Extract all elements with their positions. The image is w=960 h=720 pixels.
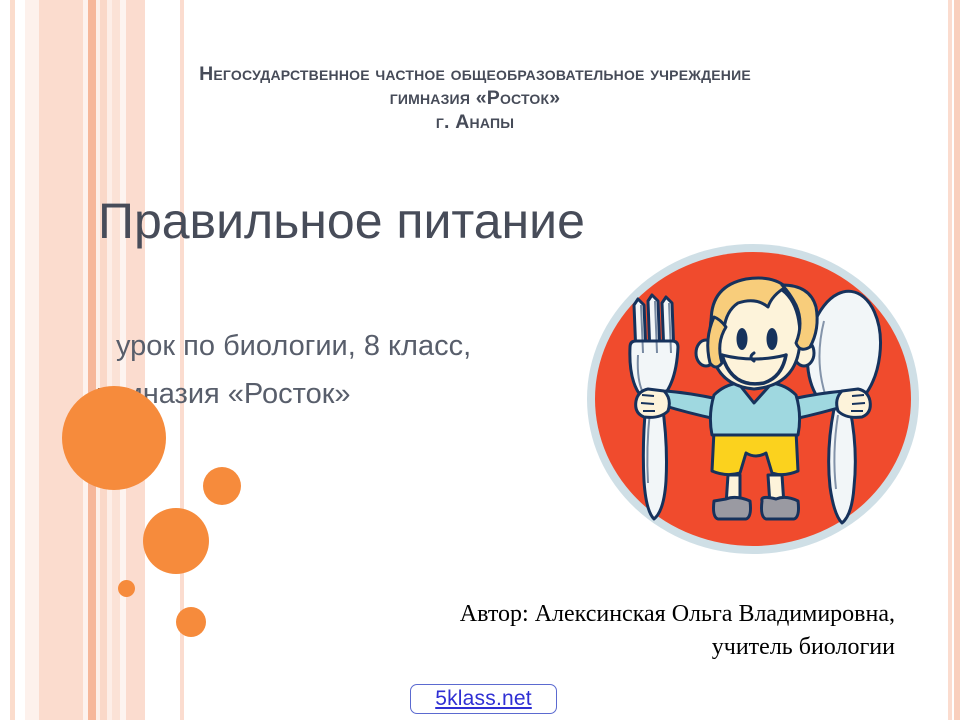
author-line-1: Автор: Алексинская Ольга Владимировна,: [275, 598, 895, 631]
stripe-3: [83, 0, 88, 720]
org-header-line-2: гимназия «Росток»: [90, 86, 860, 110]
stripe-0: [10, 0, 15, 720]
author-line-2: учитель биологии: [275, 631, 895, 664]
circle-tiny: [118, 580, 135, 597]
stripe-12: [948, 0, 952, 720]
subtitle-line-2: гимназия «Росток»: [96, 370, 616, 418]
subtitle-line-1: урок по биологии, 8 класс,: [96, 322, 616, 370]
stripe-2: [39, 0, 83, 720]
org-header-line-1: Негосударственное частное общеобразовате…: [90, 62, 860, 86]
stripe-13: [954, 0, 960, 720]
page-title: Правильное питание: [98, 192, 585, 250]
watermark-badge[interactable]: 5klass.net: [410, 684, 557, 714]
circle-medium: [143, 508, 209, 574]
child-with-fork-and-spoon-illustration: [586, 243, 920, 555]
slide-canvas: Негосударственное частное общеобразовате…: [0, 0, 960, 720]
watermark-link-text[interactable]: 5klass.net: [435, 687, 532, 711]
circle-large: [62, 386, 166, 490]
stripe-1: [25, 0, 39, 720]
circle-small-bottom: [176, 607, 206, 637]
author-credit: Автор: Алексинская Ольга Владимировна, у…: [275, 598, 895, 664]
circle-small-right: [203, 467, 241, 505]
org-header-line-3: г. Анапы: [90, 110, 860, 134]
subtitle: урок по биологии, 8 класс, гимназия «Рос…: [96, 322, 616, 418]
organization-header: Негосударственное частное общеобразовате…: [90, 62, 860, 134]
